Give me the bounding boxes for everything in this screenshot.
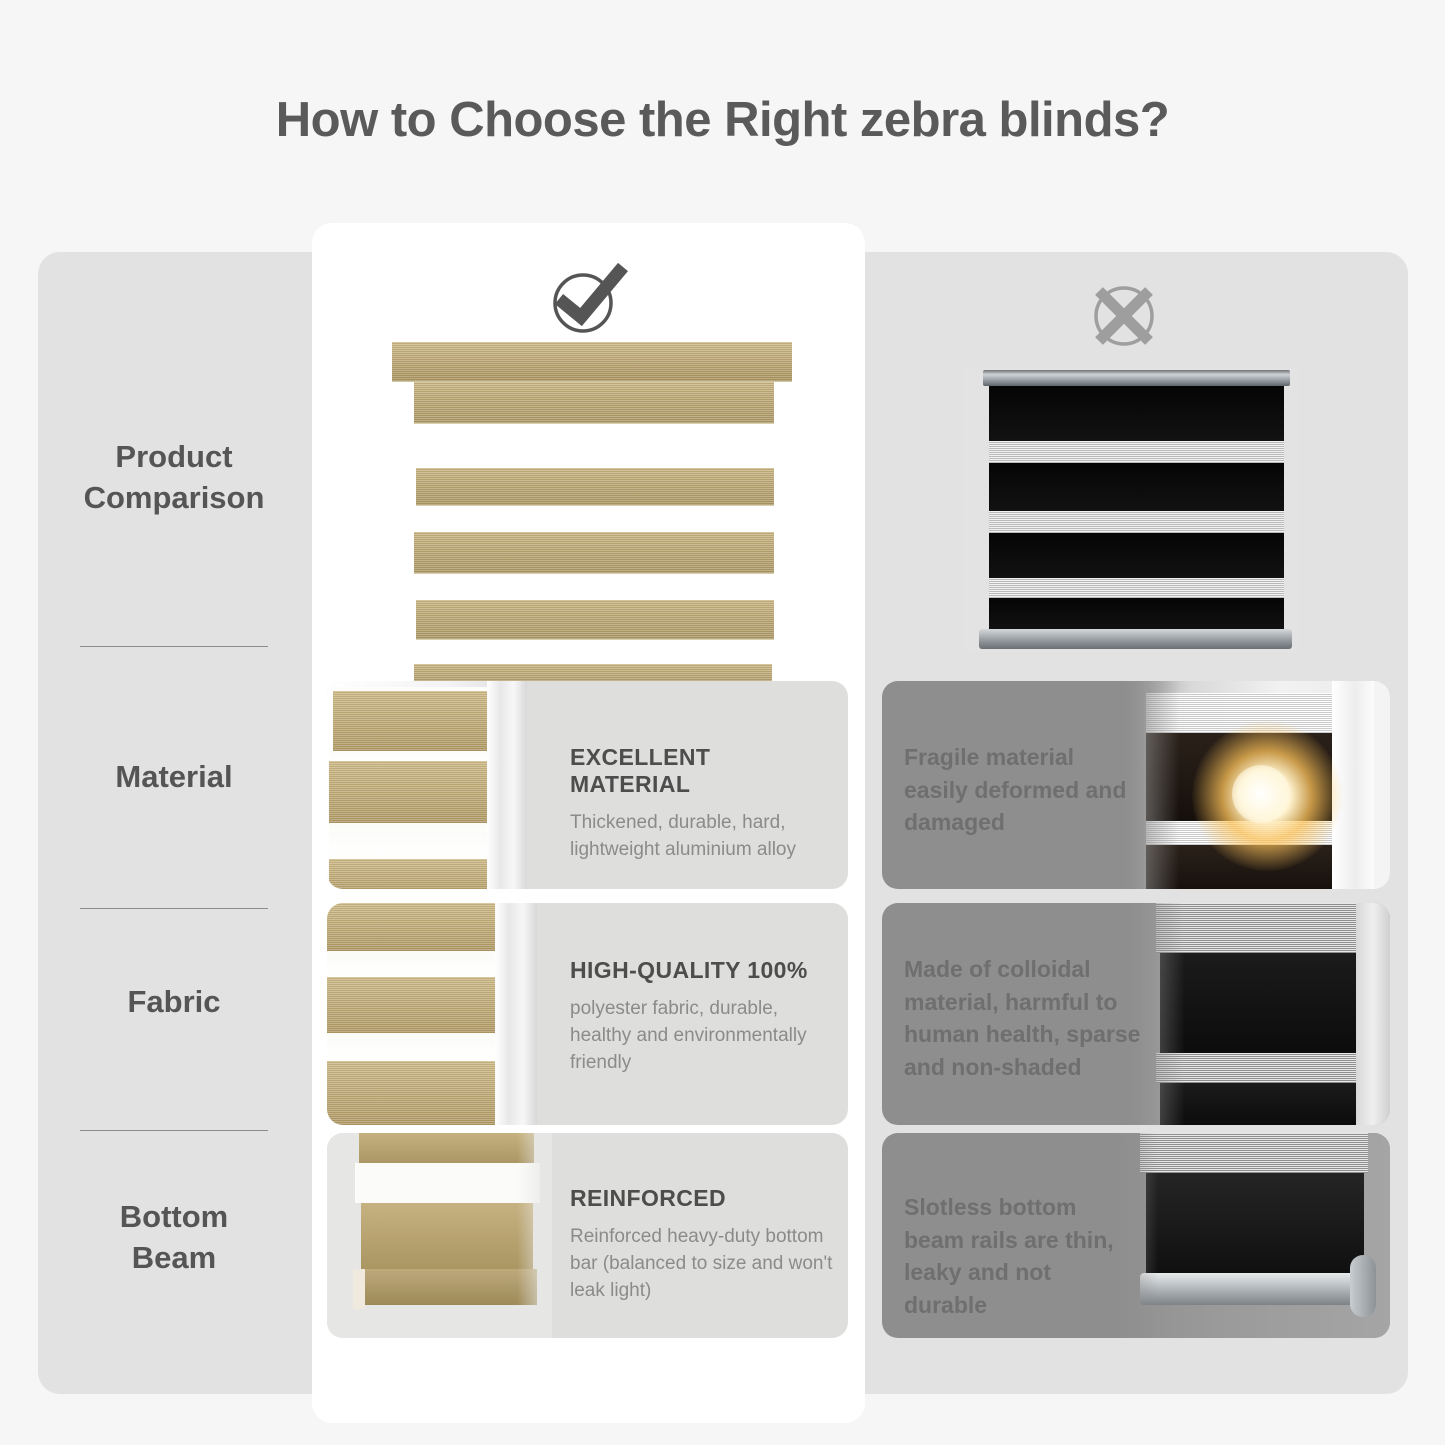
blind-headrail	[392, 342, 792, 382]
row-divider-2	[80, 908, 268, 909]
row-divider-1	[80, 646, 268, 647]
blind-slat	[416, 600, 774, 640]
feature-text-good-material: EXCELLENT MATERIAL Thickened, durable, h…	[570, 744, 832, 864]
feature-card-bad-bottom-beam: Slotless bottom beam rails are thin, lea…	[882, 1133, 1390, 1338]
feature-text-bad-material: Fragile material easily deformed and dam…	[904, 741, 1134, 839]
feature-image-bad-fabric	[1120, 903, 1390, 1125]
feature-card-bad-fabric: Made of colloidal material, harmful to h…	[882, 903, 1390, 1125]
hero-image-good	[392, 342, 792, 664]
feature-heading: HIGH-QUALITY 100%	[570, 957, 840, 984]
feature-heading: EXCELLENT MATERIAL	[570, 744, 832, 798]
feature-card-good-fabric: HIGH-QUALITY 100% polyester fabric, dura…	[327, 903, 848, 1125]
row-label-fabric: Fabric	[38, 957, 310, 1047]
blind-band-sheer	[989, 441, 1284, 463]
page-title: How to Choose the Right zebra blinds?	[0, 92, 1445, 148]
feature-body: polyester fabric, durable, healthy and e…	[570, 996, 840, 1077]
feature-card-bad-material: Fragile material easily deformed and dam…	[882, 681, 1390, 889]
check-circle-icon	[543, 259, 633, 344]
blind-band-dark	[989, 598, 1284, 631]
feature-card-good-material: EXCELLENT MATERIAL Thickened, durable, h…	[327, 681, 848, 889]
row-label-text: ProductComparison	[84, 436, 265, 518]
blind-band-sheer	[989, 511, 1284, 533]
row-label-material: Material	[38, 732, 310, 822]
feature-text-good-fabric: HIGH-QUALITY 100% polyester fabric, dura…	[570, 957, 840, 1077]
feature-body: Reinforced heavy-duty bottom bar (balanc…	[570, 1224, 838, 1305]
blind-band-dark	[989, 463, 1284, 511]
row-label-text: Material	[115, 756, 232, 797]
row-label-rail: ProductComparison Material Fabric Bottom…	[38, 252, 310, 1394]
feature-image-good-fabric	[327, 903, 537, 1125]
feature-image-good-bottom-beam	[327, 1133, 552, 1338]
row-label-text: BottomBeam	[120, 1196, 228, 1278]
feature-text-good-bottom-beam: REINFORCED Reinforced heavy-duty bottom …	[570, 1185, 838, 1305]
feature-image-bad-material	[1120, 681, 1390, 889]
feature-image-good-material	[327, 681, 527, 889]
row-label-bottom-beam: BottomBeam	[38, 1172, 310, 1302]
blind-band-dark	[989, 386, 1284, 441]
blind-band-sheer	[989, 578, 1284, 598]
blind-slat	[416, 468, 774, 506]
feature-image-bad-bottom-beam	[1100, 1133, 1390, 1338]
blind-slat	[414, 382, 774, 424]
feature-body: Thickened, durable, hard, lightweight al…	[570, 810, 832, 864]
blind-bottom-bar	[979, 629, 1292, 649]
infographic-page: How to Choose the Right zebra blinds? Pr…	[0, 0, 1445, 1445]
feature-card-good-bottom-beam: REINFORCED Reinforced heavy-duty bottom …	[327, 1133, 848, 1338]
row-label-text: Fabric	[127, 981, 220, 1022]
blind-headrail	[983, 370, 1290, 386]
feature-heading: REINFORCED	[570, 1185, 838, 1212]
feature-text-bad-fabric: Made of colloidal material, harmful to h…	[904, 953, 1150, 1084]
blind-slat	[414, 532, 774, 574]
row-label-product-comparison: ProductComparison	[38, 412, 310, 542]
hero-image-bad	[963, 368, 1298, 653]
x-circle-icon	[1085, 277, 1163, 360]
blind-band-dark	[989, 533, 1284, 578]
row-divider-3	[80, 1130, 268, 1131]
feature-text-bad-bottom-beam: Slotless bottom beam rails are thin, lea…	[904, 1191, 1140, 1322]
